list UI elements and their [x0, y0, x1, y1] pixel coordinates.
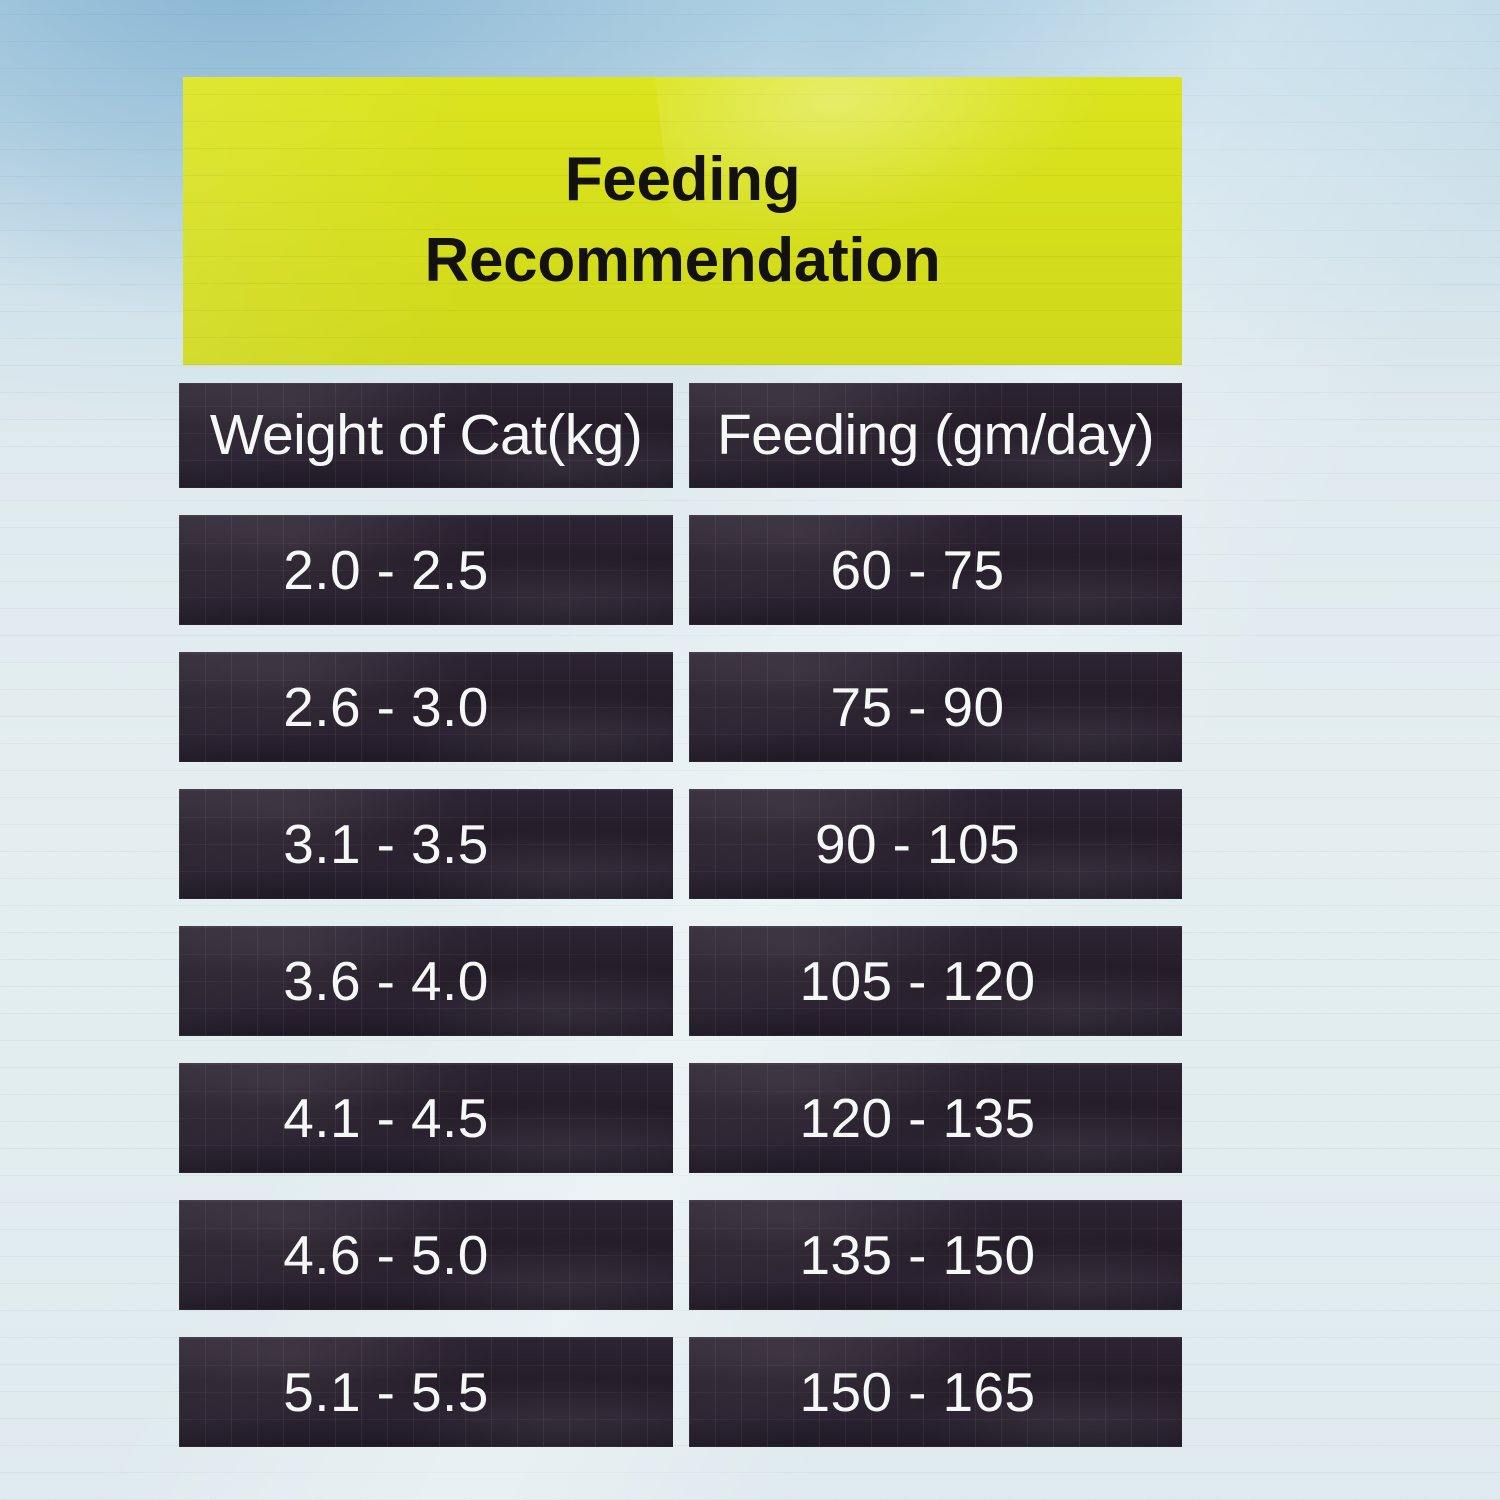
- table-cell-feeding: 90 - 105: [689, 789, 1182, 899]
- table-cell-weight: 2.6 - 3.0: [179, 652, 673, 762]
- feeding-recommendation-banner: Feeding Recommendation: [183, 77, 1182, 365]
- table-cell-value-feeding: 105 - 120: [799, 949, 1035, 1013]
- table-cell-value-weight: 3.6 - 4.0: [283, 949, 488, 1013]
- table-header-row: Weight of Cat(kg) Feeding (gm/day): [179, 383, 1182, 488]
- table-cell-value-feeding: 90 - 105: [815, 812, 1020, 876]
- table-cell-value-feeding: 120 - 135: [799, 1086, 1035, 1150]
- table-cell-feeding: 105 - 120: [689, 926, 1182, 1036]
- banner-title-line-2: Recommendation: [425, 221, 941, 302]
- table-cell-feeding: 75 - 90: [689, 652, 1182, 762]
- table-cell-value-feeding: 135 - 150: [799, 1223, 1035, 1287]
- table-cell-weight: 3.6 - 4.0: [179, 926, 673, 1036]
- table-header-cell-feeding: Feeding (gm/day): [689, 383, 1182, 488]
- table-header-label-weight: Weight of Cat(kg): [210, 402, 642, 468]
- table-cell-weight: 2.0 - 2.5: [179, 515, 673, 625]
- table-cell-value-weight: 3.1 - 3.5: [283, 812, 488, 876]
- table-row: 4.1 - 4.5 120 - 135: [179, 1063, 1182, 1173]
- table-row: 5.1 - 5.5 150 - 165: [179, 1337, 1182, 1447]
- table-cell-weight: 3.1 - 3.5: [179, 789, 673, 899]
- table-row: 3.1 - 3.5 90 - 105: [179, 789, 1182, 899]
- table-row: 3.6 - 4.0 105 - 120: [179, 926, 1182, 1036]
- table-cell-value-weight: 2.6 - 3.0: [283, 675, 488, 739]
- table-cell-value-weight: 4.1 - 4.5: [283, 1086, 488, 1150]
- table-row: 4.6 - 5.0 135 - 150: [179, 1200, 1182, 1310]
- table-row: 2.6 - 3.0 75 - 90: [179, 652, 1182, 762]
- table-header-cell-weight: Weight of Cat(kg): [179, 383, 673, 488]
- table-cell-value-weight: 5.1 - 5.5: [283, 1360, 488, 1424]
- package-background-panel: Feeding Recommendation Weight of Cat(kg)…: [0, 0, 1500, 1500]
- table-cell-weight: 4.6 - 5.0: [179, 1200, 673, 1310]
- table-cell-feeding: 150 - 165: [689, 1337, 1182, 1447]
- table-cell-value-feeding: 60 - 75: [830, 538, 1004, 602]
- table-cell-weight: 4.1 - 4.5: [179, 1063, 673, 1173]
- table-cell-feeding: 135 - 150: [689, 1200, 1182, 1310]
- table-cell-value-feeding: 75 - 90: [830, 675, 1004, 739]
- table-cell-value-weight: 2.0 - 2.5: [283, 538, 488, 602]
- table-header-label-feeding: Feeding (gm/day): [717, 402, 1154, 468]
- banner-title-line-1: Feeding: [565, 140, 801, 221]
- table-cell-feeding: 60 - 75: [689, 515, 1182, 625]
- table-cell-feeding: 120 - 135: [689, 1063, 1182, 1173]
- feeding-recommendation-table: Weight of Cat(kg) Feeding (gm/day) 2.0 -…: [179, 383, 1182, 1447]
- table-cell-value-feeding: 150 - 165: [799, 1360, 1035, 1424]
- table-cell-weight: 5.1 - 5.5: [179, 1337, 673, 1447]
- table-row: 2.0 - 2.5 60 - 75: [179, 515, 1182, 625]
- table-cell-value-weight: 4.6 - 5.0: [283, 1223, 488, 1287]
